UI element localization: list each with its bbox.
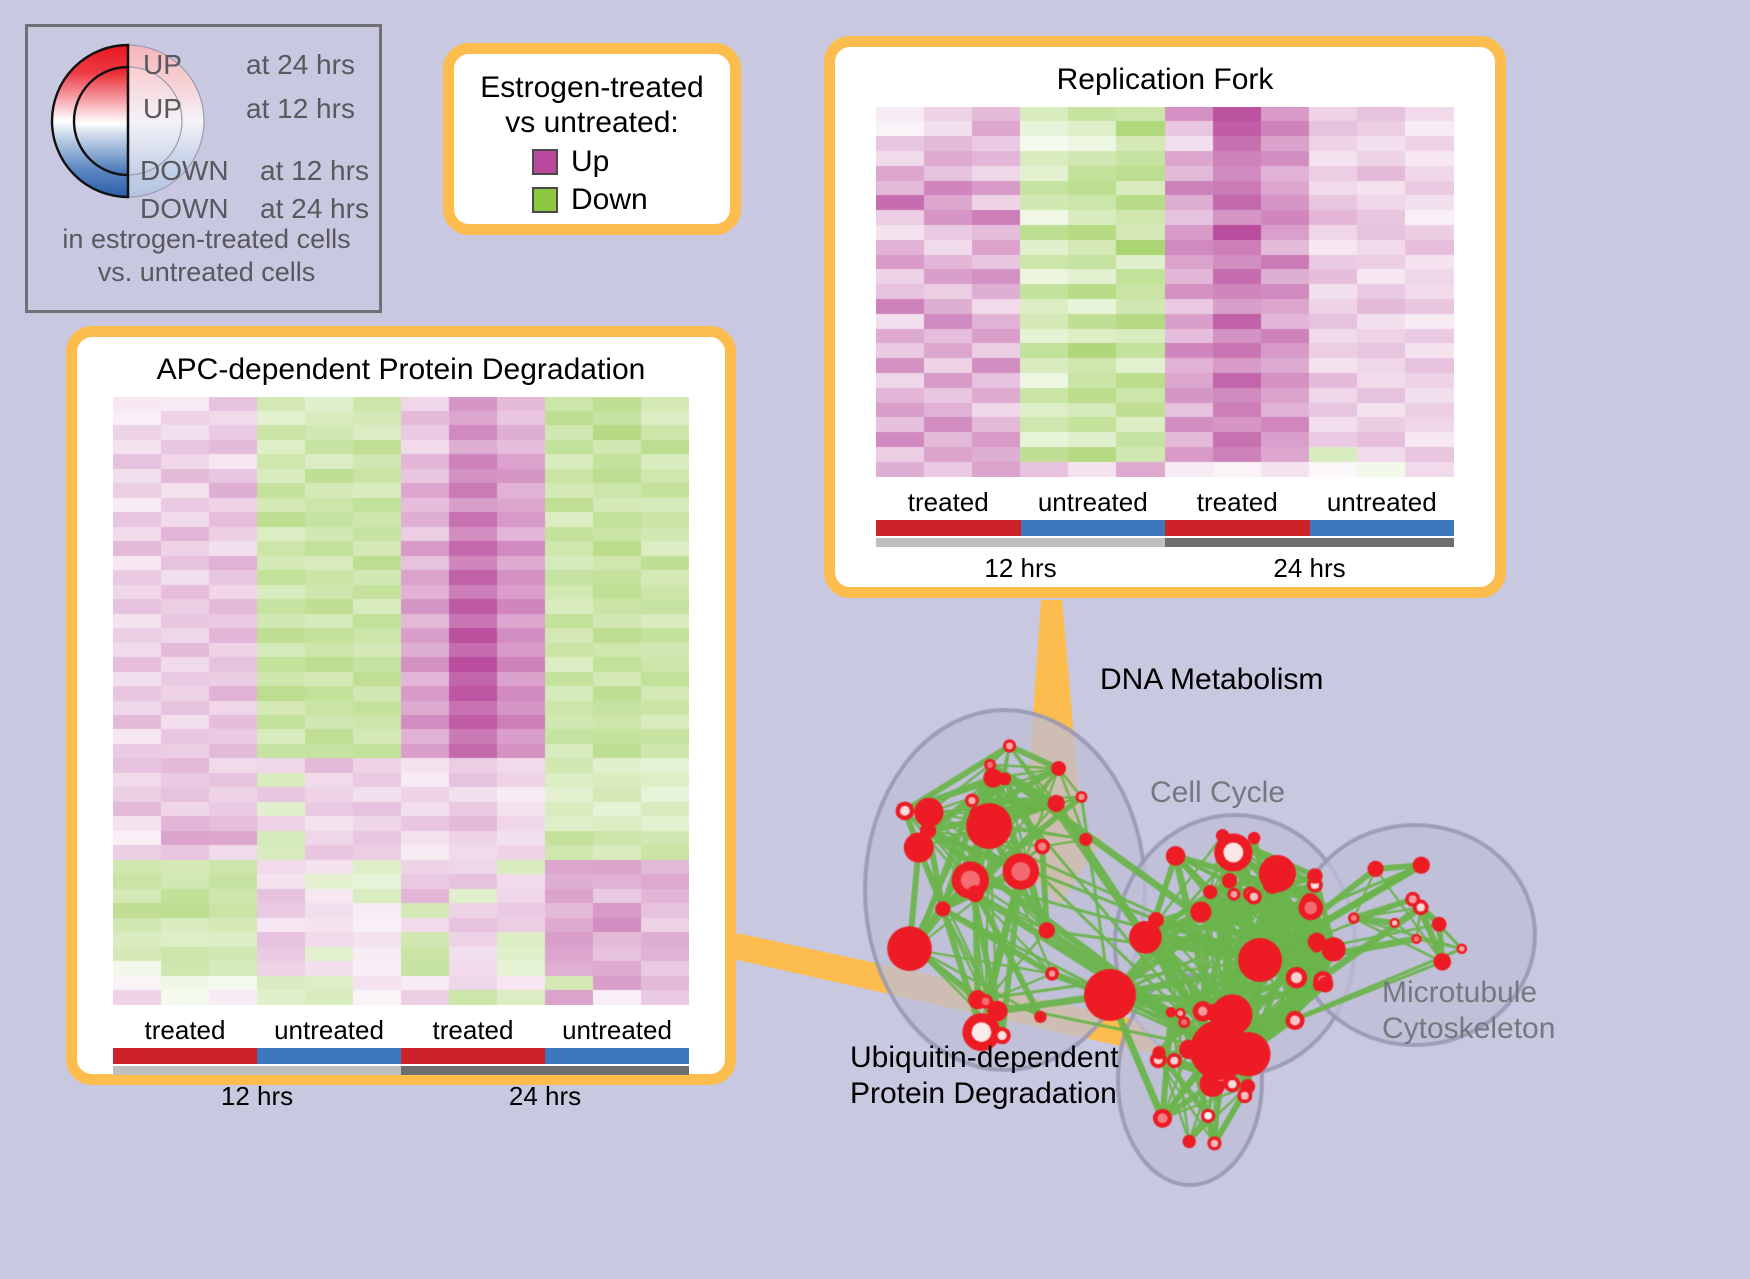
legend-time-0: at 24 hrs <box>246 49 355 81</box>
condition-bar-untreated-3 <box>545 1048 689 1064</box>
time-bar-12hrs <box>876 538 1165 547</box>
figure-canvas: UP at 24 hrs UP at 12 hrs DOWN at 12 hrs… <box>0 0 1750 1279</box>
time-bar-24hrs <box>401 1066 689 1075</box>
cluster-label-ubiquitin-line2: Protein Degradation <box>850 1076 1119 1112</box>
condition-label-untreated-1: untreated <box>257 1015 401 1046</box>
legend-direction-3: DOWN <box>140 193 229 225</box>
cluster-label-microtubule-cytoskeleton: Microtubule Cytoskeleton <box>1382 975 1555 1047</box>
time-bar-24hrs <box>1165 538 1454 547</box>
network-diagram: DNA Metabolism Cell Cycle Microtubule Cy… <box>790 600 1750 1279</box>
time-label-24hrs: 24 hrs <box>1165 553 1454 584</box>
condition-label-treated-0: treated <box>113 1015 257 1046</box>
time-label-24hrs: 24 hrs <box>401 1081 689 1112</box>
condition-bar-untreated-1 <box>1021 520 1166 536</box>
time-bar-12hrs <box>113 1066 401 1075</box>
updown-legend-title: Estrogen-treated vs untreated: <box>454 70 730 141</box>
condition-labels-apc: treateduntreatedtreateduntreated <box>113 1015 689 1046</box>
condition-bar-treated-2 <box>401 1048 545 1064</box>
condition-label-untreated-3: untreated <box>1310 487 1455 518</box>
time-label-12hrs: 12 hrs <box>876 553 1165 584</box>
panel-replication-fork: Replication Fork treateduntreatedtreated… <box>824 36 1506 598</box>
legend-time-1: at 12 hrs <box>246 93 355 125</box>
time-color-bar-apc <box>113 1066 689 1075</box>
condition-label-untreated-3: untreated <box>545 1015 689 1046</box>
caption-line-1: in estrogen-treated cells <box>28 223 385 256</box>
updown-legend-box: Estrogen-treated vs untreated: Up Down <box>443 43 741 235</box>
legend-direction-2: DOWN <box>140 155 229 187</box>
time-color-bar-replication <box>876 538 1454 547</box>
condition-color-bar-apc <box>113 1048 689 1064</box>
time-labels-replication: 12 hrs 24 hrs <box>876 553 1454 584</box>
cluster-label-ubiquitin-line1: Ubiquitin-dependent <box>850 1040 1119 1076</box>
legend-item-down: Down <box>532 183 730 217</box>
heatmap-apc-dependent-protein-degradation <box>113 397 689 1005</box>
up-color-swatch <box>532 149 558 175</box>
caption-line-2: vs. untreated cells <box>28 256 385 289</box>
colorwheel-legend-box: UP at 24 hrs UP at 12 hrs DOWN at 12 hrs… <box>25 24 382 313</box>
heatmap-replication-fork <box>876 107 1454 477</box>
condition-labels-replication: treateduntreatedtreateduntreated <box>876 487 1454 518</box>
cluster-label-microtubule-line2: Cytoskeleton <box>1382 1011 1555 1047</box>
colorwheel-caption: in estrogen-treated cells vs. untreated … <box>28 223 385 289</box>
condition-bar-untreated-1 <box>257 1048 401 1064</box>
condition-bar-treated-0 <box>113 1048 257 1064</box>
time-label-12hrs: 12 hrs <box>113 1081 401 1112</box>
cluster-label-cell-cycle: Cell Cycle <box>1150 775 1285 811</box>
down-color-swatch <box>532 187 558 213</box>
down-label: Down <box>571 183 648 217</box>
legend-time-3: at 24 hrs <box>260 193 369 225</box>
up-label: Up <box>571 145 609 179</box>
condition-label-treated-0: treated <box>876 487 1021 518</box>
condition-color-bar-replication <box>876 520 1454 536</box>
cluster-label-microtubule-line1: Microtubule <box>1382 975 1555 1011</box>
condition-bar-untreated-3 <box>1310 520 1455 536</box>
network-canvas <box>790 600 1750 1279</box>
condition-bar-treated-2 <box>1165 520 1310 536</box>
condition-label-treated-2: treated <box>1165 487 1310 518</box>
legend-direction-0: UP <box>143 49 182 81</box>
condition-label-untreated-1: untreated <box>1021 487 1166 518</box>
condition-bar-treated-0 <box>876 520 1021 536</box>
updown-legend-title-line2: vs untreated: <box>454 105 730 140</box>
panel-title-replication-fork: Replication Fork <box>835 63 1495 97</box>
updown-legend-title-line1: Estrogen-treated <box>454 70 730 105</box>
panel-apc-dependent-protein-degradation: APC-dependent Protein Degradation treate… <box>66 326 736 1085</box>
cluster-label-ubiquitin-dependent-protein-degradation: Ubiquitin-dependent Protein Degradation <box>850 1040 1119 1112</box>
legend-time-2: at 12 hrs <box>260 155 369 187</box>
legend-item-up: Up <box>532 145 730 179</box>
condition-label-treated-2: treated <box>401 1015 545 1046</box>
time-labels-apc: 12 hrs 24 hrs <box>113 1081 689 1112</box>
legend-direction-1: UP <box>143 93 182 125</box>
cluster-label-dna-metabolism: DNA Metabolism <box>1100 662 1323 698</box>
panel-title-apc: APC-dependent Protein Degradation <box>77 353 725 387</box>
